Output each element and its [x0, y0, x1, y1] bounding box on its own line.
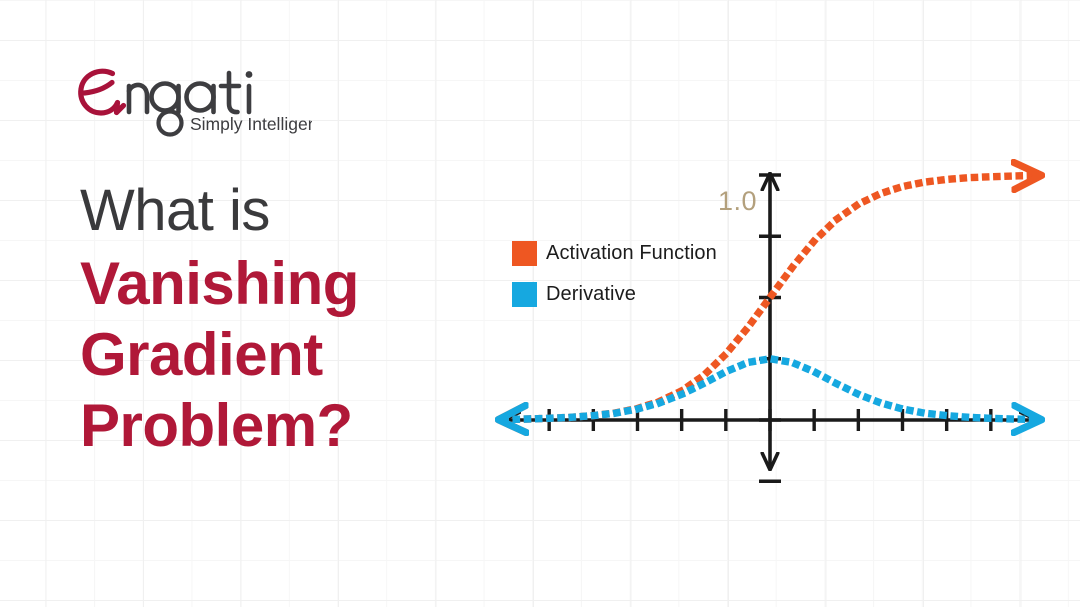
headline-line-3: Gradient — [80, 325, 480, 385]
legend-label-activation-function: Activation Function — [546, 242, 717, 265]
blue-square-swatch — [512, 282, 537, 307]
slide-canvas: Simply Intelligent /* inject tagline tex… — [0, 0, 1080, 607]
legend-item-activation-function[interactable]: Activation Function — [512, 238, 717, 268]
headline-line-2: Vanishing — [80, 254, 480, 314]
letter-i-dot — [246, 71, 253, 78]
y-axis-max-label: 1.0 — [718, 186, 757, 217]
legend-item-derivative[interactable]: Derivative — [512, 279, 717, 309]
headline-line-4: Problem? — [80, 396, 480, 456]
headline-line-1: What is — [80, 182, 480, 240]
sigmoid-chart — [480, 150, 1060, 490]
page-title: What is Vanishing Gradient Problem? — [80, 182, 480, 467]
orange-square-swatch — [512, 241, 537, 266]
logo-tagline: Simply Intelligent — [190, 114, 312, 134]
engati-wordmark — [129, 73, 249, 112]
legend-label-derivative: Derivative — [546, 283, 636, 306]
engati-speech-bubble-e-icon — [81, 71, 124, 113]
chart-axes — [505, 175, 1035, 481]
chart-legend: Activation Function Derivative — [512, 238, 717, 320]
logo-circle-mark — [159, 112, 182, 135]
engati-logo[interactable]: Simply Intelligent — [72, 55, 312, 137]
